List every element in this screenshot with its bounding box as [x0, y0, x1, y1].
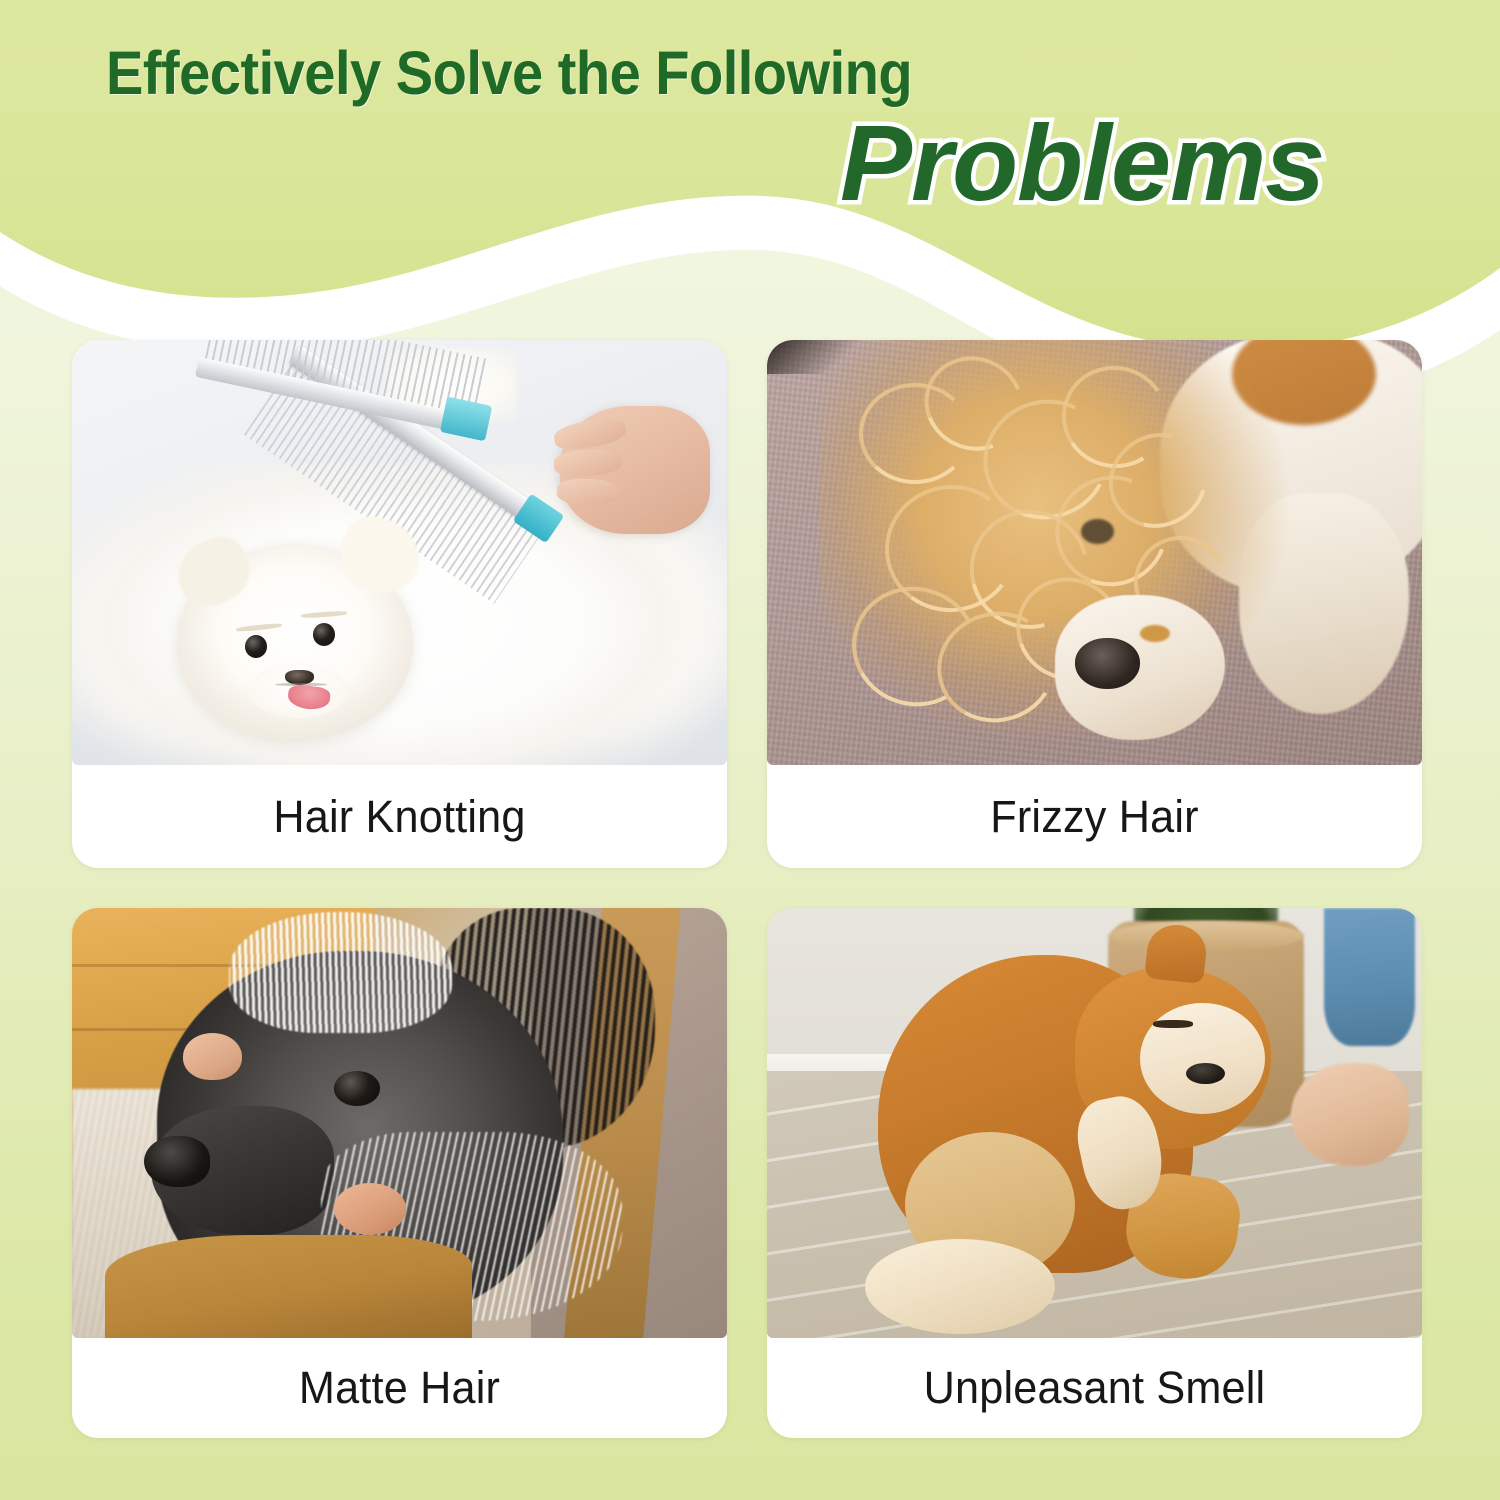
headline-line-1: Effectively Solve the Following [106, 41, 912, 105]
page-title: Effectively Solve the Following Problems [0, 0, 1500, 250]
promo-infographic: Effectively Solve the Following Problems [0, 0, 1500, 1500]
card-caption: Unpleasant Smell [780, 1338, 1409, 1438]
card-caption: Frizzy Hair [780, 765, 1409, 868]
problem-card-grid: Hair Knotting [0, 340, 1500, 1438]
problem-card-frizzy-hair[interactable]: Frizzy Hair [767, 340, 1422, 868]
card-caption: Matte Hair [85, 1338, 714, 1438]
problem-card-hair-knotting[interactable]: Hair Knotting [72, 340, 727, 868]
scruffy-matted-dog-photo [72, 908, 727, 1338]
shiba-inu-scratching-photo [767, 908, 1422, 1338]
problem-card-unpleasant-smell[interactable]: Unpleasant Smell [767, 908, 1422, 1438]
golden-curly-haired-dog-photo [767, 340, 1422, 765]
headline-line-2: Problems [840, 107, 1324, 219]
problem-card-matte-hair[interactable]: Matte Hair [72, 908, 727, 1438]
white-pomeranian-being-combed-photo [72, 340, 727, 765]
human-hand [550, 400, 720, 553]
card-caption: Hair Knotting [85, 765, 714, 868]
